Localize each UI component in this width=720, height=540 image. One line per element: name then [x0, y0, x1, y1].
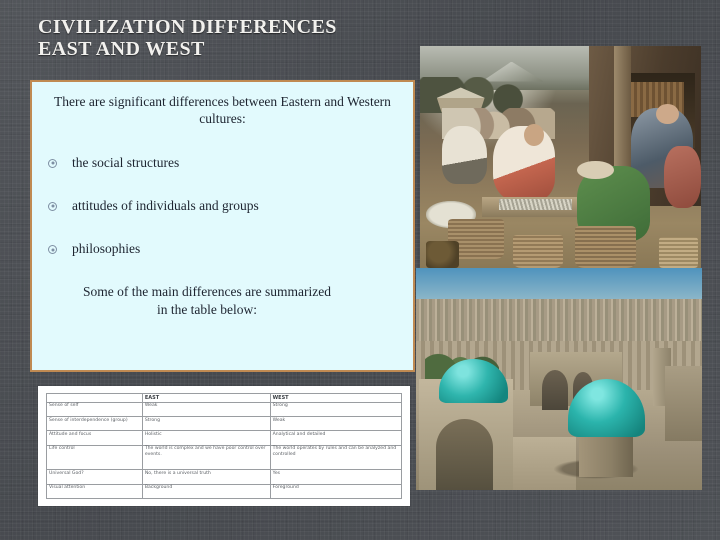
row-east: No, there is a universal truth: [142, 470, 270, 484]
row-label: Life control: [47, 445, 143, 470]
row-label: Sense of interdependence (group): [47, 417, 143, 431]
table-row: Sense of interdependence (group) Strong …: [47, 417, 402, 431]
row-west: Foreground: [270, 484, 401, 498]
row-east: Holistic: [142, 431, 270, 445]
table-row: Attitude and focus Holistic Analytical a…: [47, 431, 402, 445]
table-row: Sense of self Weak Strong: [47, 402, 402, 416]
bullet-label: philosophies: [72, 241, 140, 256]
market-painting-art: [420, 46, 701, 268]
market-painting-image: [420, 46, 701, 268]
list-item: attitudes of individuals and groups: [46, 198, 399, 214]
row-west: Yes: [270, 470, 401, 484]
list-item: philosophies: [46, 241, 399, 257]
intro-text: There are significant differences betwee…: [52, 94, 393, 128]
table-header-east: EAST: [142, 394, 270, 403]
row-east: The world is complex and we have poor co…: [142, 445, 270, 470]
bullet-list: the social structures attitudes of indiv…: [46, 155, 399, 258]
circled-dot-bullet-icon: [48, 245, 57, 254]
title-line-1: CIVILIZATION DIFFERENCES: [38, 16, 438, 38]
title-line-2: EAST AND WEST: [38, 38, 438, 60]
table-row: Visual attention Background Foreground: [47, 484, 402, 498]
circled-dot-bullet-icon: [48, 202, 57, 211]
slide-canvas: CIVILIZATION DIFFERENCES EAST AND WEST T…: [0, 0, 720, 540]
content-textbox: There are significant differences betwee…: [30, 80, 415, 372]
circled-dot-bullet-icon: [48, 159, 57, 168]
east-west-comparison-table: EAST WEST Sense of self Weak Strong Sens…: [46, 393, 402, 499]
row-east: Weak: [142, 402, 270, 416]
table-header-west: WEST: [270, 394, 401, 403]
row-label: Attitude and focus: [47, 431, 143, 445]
list-item: the social structures: [46, 155, 399, 171]
table-header-row: EAST WEST: [47, 394, 402, 403]
row-west: The world operates by rules and can be a…: [270, 445, 401, 470]
row-label: Universal God?: [47, 470, 143, 484]
row-east: Background: [142, 484, 270, 498]
table-row: Universal God? No, there is a universal …: [47, 470, 402, 484]
row-west: Weak: [270, 417, 401, 431]
row-east: Strong: [142, 417, 270, 431]
bullet-label: the social structures: [72, 155, 179, 170]
table-row: Life control The world is complex and we…: [47, 445, 402, 470]
closing-text: Some of the main differences are summari…: [82, 283, 332, 318]
row-label: Sense of self: [47, 402, 143, 416]
city-domes-art: [416, 268, 702, 490]
table-header-blank: [47, 394, 143, 403]
city-domes-image: [416, 268, 702, 490]
row-west: Strong: [270, 402, 401, 416]
page-title: CIVILIZATION DIFFERENCES EAST AND WEST: [38, 16, 438, 61]
row-label: Visual attention: [47, 484, 143, 498]
row-west: Analytical and detailed: [270, 431, 401, 445]
bullet-label: attitudes of individuals and groups: [72, 198, 259, 213]
comparison-table-panel: EAST WEST Sense of self Weak Strong Sens…: [38, 386, 410, 506]
